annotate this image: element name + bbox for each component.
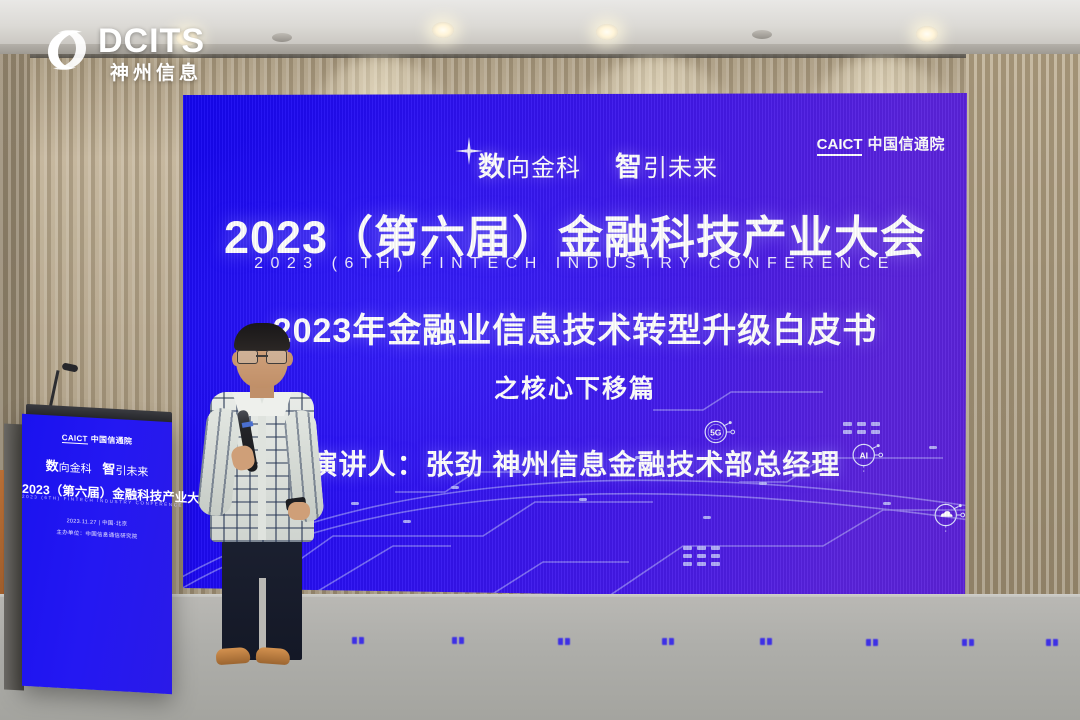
watermark-brand-cn: 神州信息 bbox=[110, 58, 202, 85]
right-wall-panel bbox=[966, 50, 1080, 650]
lectern-front-panel: CAICT中国信通院 数向金科 智引未来 2023（第六届）金融科技产业大会 2… bbox=[22, 414, 172, 694]
speaker-hand-right bbox=[288, 502, 310, 520]
glasses-lens-right bbox=[266, 350, 287, 364]
caict-logo: CAICT中国信通院 bbox=[817, 133, 945, 154]
tagline-part2-light: 引未来 bbox=[643, 155, 718, 182]
conference-title-en: 2023 (6TH) FINTECH INDUSTRY CONFERENCE bbox=[183, 255, 967, 273]
screen-tagline: 数向金科 智引未来 bbox=[478, 145, 718, 184]
dcits-watermark: DCITS 神州信息 bbox=[24, 18, 224, 80]
lectern-tagline-1-strong: 数 bbox=[46, 458, 59, 474]
5g-network-node-icon: 5G bbox=[703, 415, 737, 449]
glasses-bridge bbox=[256, 355, 268, 357]
ai-network-node-icon: AI bbox=[851, 438, 885, 472]
lectern-tagline-2-light: 引未来 bbox=[115, 465, 148, 479]
dcits-swoosh-logo bbox=[40, 22, 96, 78]
ceiling-vent bbox=[752, 30, 772, 39]
tagline-part2-strong: 智 bbox=[615, 152, 643, 182]
speaker-person bbox=[196, 326, 326, 666]
tagline-part1-strong: 数 bbox=[478, 152, 506, 182]
ceiling-spotlight bbox=[596, 24, 618, 40]
conference-stage-photo: 数向金科 智引未来 CAICT中国信通院 2023（第六届）金融科技产业大会 2… bbox=[0, 0, 1080, 720]
watermark-brand-en: DCITS bbox=[98, 22, 205, 61]
caict-mark: CAICT bbox=[817, 136, 863, 156]
speaker-hair bbox=[234, 323, 290, 351]
glasses-lens-left bbox=[237, 350, 258, 364]
lectern-side-panel bbox=[4, 423, 24, 690]
lectern-tagline-2-strong: 智 bbox=[102, 461, 115, 477]
lectern-caict-mark: CAICT bbox=[62, 433, 88, 444]
eyeglasses-icon bbox=[236, 350, 288, 363]
floor-reflection bbox=[866, 639, 878, 646]
svg-text:5G: 5G bbox=[710, 427, 722, 437]
floor-reflection bbox=[962, 639, 974, 646]
ceiling-vent bbox=[272, 33, 292, 42]
lectern-caict-logo: CAICT中国信通院 bbox=[22, 430, 172, 449]
lectern-tagline: 数向金科 智引未来 bbox=[22, 454, 172, 481]
tagline-part1-light: 向金科 bbox=[506, 155, 581, 182]
ceiling-spotlight bbox=[916, 26, 938, 42]
floor-reflection bbox=[452, 637, 464, 644]
lectern-tagline-1-light: 向金科 bbox=[59, 462, 92, 476]
lectern-caict-label: 中国信通院 bbox=[91, 435, 133, 446]
floor-reflection bbox=[760, 638, 772, 645]
cloud-network-node-icon bbox=[933, 498, 967, 532]
floor-reflection bbox=[662, 638, 674, 645]
speaker-shoe-left bbox=[215, 647, 250, 665]
floor-reflection bbox=[558, 638, 570, 645]
svg-text:AI: AI bbox=[860, 450, 869, 460]
floor-reflection bbox=[352, 637, 364, 644]
speaker-shoe-right bbox=[255, 647, 290, 665]
caict-label: 中国信通院 bbox=[867, 136, 945, 153]
speaker-shirt-placket bbox=[258, 398, 266, 540]
floor-reflection bbox=[1046, 639, 1058, 646]
ceiling-spotlight bbox=[432, 22, 454, 38]
